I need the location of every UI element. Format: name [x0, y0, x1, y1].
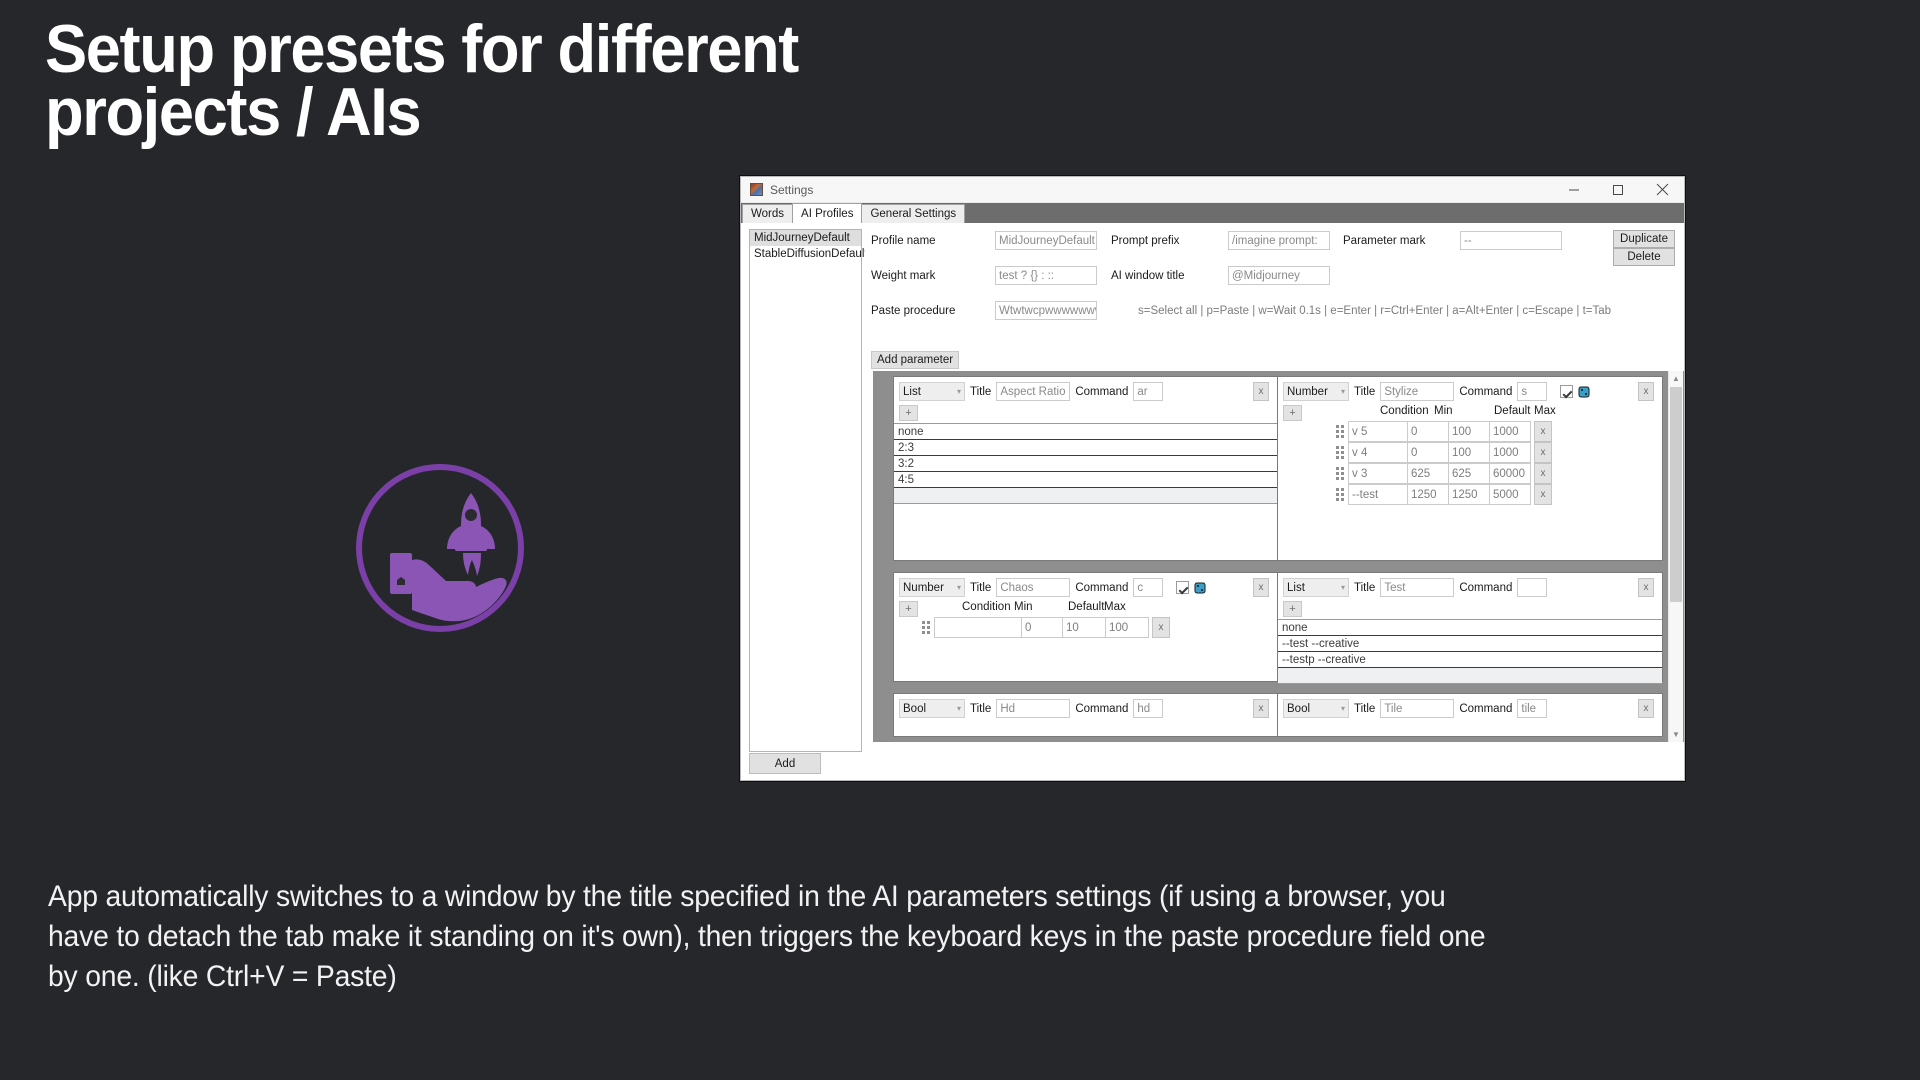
rocket-in-hand-logo	[352, 460, 528, 636]
parameter-card-hd: Bool▾ Title Hd Command hd x	[893, 693, 1278, 737]
vertical-scrollbar[interactable]: ▲ ▼	[1668, 371, 1683, 742]
condition-table-header: Condition Min Default Max	[962, 601, 1277, 613]
condition-row: v 3 625 625 60000 x	[1334, 463, 1662, 484]
minimize-icon[interactable]	[1552, 177, 1596, 202]
command-label: Command	[1459, 703, 1512, 715]
chevron-up-icon[interactable]: ▲	[1669, 371, 1683, 386]
param-kind-select[interactable]: Bool▾	[1283, 699, 1349, 718]
slide-caption: App automatically switches to a window b…	[48, 877, 1488, 996]
condition-label: Condition	[962, 601, 1014, 613]
condition-row: v 4 0 100 1000 x	[1334, 442, 1662, 463]
default-input[interactable]: 100	[1448, 442, 1490, 463]
add-parameter-button[interactable]: Add parameter	[871, 351, 959, 369]
drag-handle-icon[interactable]	[1334, 425, 1345, 439]
remove-parameter-button[interactable]: x	[1253, 578, 1269, 597]
param-kind-value: Number	[1287, 386, 1328, 398]
condition-input[interactable]: v 5	[1348, 421, 1408, 442]
param-kind-select[interactable]: List▾	[899, 382, 965, 401]
condition-input[interactable]: v 3	[1348, 463, 1408, 484]
parameters-scroll-region: List▾ Title Aspect Ratio Command ar x + …	[873, 371, 1684, 742]
default-input[interactable]: 10	[1062, 617, 1106, 638]
list-item[interactable]: 4:5	[894, 472, 1277, 488]
title-label: Title	[1354, 582, 1375, 594]
title-label: Title	[970, 582, 991, 594]
remove-parameter-button[interactable]: x	[1253, 699, 1269, 718]
title-label: Title	[1354, 703, 1375, 715]
title-label: Title	[970, 386, 991, 398]
param-kind-value: List	[903, 386, 921, 398]
min-input[interactable]: 0	[1407, 421, 1449, 442]
profile-list[interactable]: MidJourneyDefault StableDiffusionDefault	[749, 229, 862, 752]
param-title-input[interactable]: Test	[1380, 578, 1454, 597]
param-kind-select[interactable]: Number▾	[1283, 382, 1349, 401]
drag-handle-icon[interactable]	[1334, 446, 1345, 460]
remove-condition-button[interactable]: x	[1152, 617, 1170, 638]
profile-form: Profile name Weight mark Paste procedure…	[865, 223, 1684, 347]
remove-parameter-button[interactable]: x	[1638, 578, 1654, 597]
prompt-prefix-label: Prompt prefix	[1111, 235, 1179, 247]
condition-row: --test 1250 1250 5000 x	[1334, 484, 1662, 505]
command-label: Command	[1459, 386, 1512, 398]
list-item[interactable]: none	[894, 424, 1277, 440]
randomize-checkbox[interactable]	[1560, 385, 1573, 398]
param-title-input[interactable]: Hd	[996, 699, 1070, 718]
param-command-input[interactable]: ar	[1133, 382, 1163, 401]
add-condition-button[interactable]: +	[1283, 405, 1302, 421]
list-item[interactable]: 2:3	[894, 440, 1277, 456]
parameter-card-row: Number▾ Title Chaos Command c x	[893, 572, 1663, 682]
ai-window-title-input[interactable]: @Midjourney	[1228, 266, 1330, 285]
paste-procedure-input[interactable]: Wtwtwcpwwwwwww	[995, 301, 1097, 320]
param-kind-value: List	[1287, 582, 1305, 594]
condition-input[interactable]: --test	[1348, 484, 1408, 505]
parameter-card-stylize: Number▾ Title Stylize Command s x	[1278, 376, 1663, 561]
profile-item-stablediffusiondefault[interactable]: StableDiffusionDefault	[750, 246, 861, 262]
command-label: Command	[1075, 386, 1128, 398]
max-input[interactable]: 100	[1105, 617, 1149, 638]
parameter-card-aspect-ratio: List▾ Title Aspect Ratio Command ar x + …	[893, 376, 1278, 561]
default-input[interactable]: 100	[1448, 421, 1490, 442]
list-item[interactable]: 3:2	[894, 456, 1277, 472]
param-title-input[interactable]: Chaos	[996, 578, 1070, 597]
default-label: Default	[1068, 601, 1104, 613]
default-input[interactable]: 1250	[1448, 484, 1490, 505]
chevron-down-icon: ▾	[957, 583, 961, 592]
window-titlebar: Settings	[741, 177, 1684, 203]
tab-general-settings[interactable]: General Settings	[861, 204, 965, 223]
weight-mark-label: Weight mark	[871, 270, 935, 282]
window-title: Settings	[770, 183, 813, 197]
min-input[interactable]: 1250	[1407, 484, 1449, 505]
add-condition-button[interactable]: +	[899, 601, 918, 617]
default-label: Default	[1494, 405, 1534, 417]
list-item[interactable]: --testp --creative	[1278, 652, 1662, 668]
param-command-input[interactable]: hd	[1133, 699, 1163, 718]
randomize-checkbox[interactable]	[1176, 581, 1189, 594]
chevron-down-icon: ▾	[957, 704, 961, 713]
remove-condition-button[interactable]: x	[1534, 463, 1552, 484]
scrollbar-thumb[interactable]	[1670, 387, 1682, 602]
chevron-down-icon: ▾	[957, 387, 961, 396]
param-kind-select[interactable]: Bool▾	[899, 699, 965, 718]
weight-mark-input[interactable]: test ? {} : ::	[995, 266, 1097, 285]
parameter-mark-input[interactable]: --	[1460, 231, 1562, 250]
title-label: Title	[1354, 386, 1375, 398]
paste-procedure-label: Paste procedure	[871, 305, 955, 317]
duplicate-button[interactable]: Duplicate	[1613, 230, 1675, 248]
ai-window-title-label: AI window title	[1111, 270, 1185, 282]
app-icon	[750, 183, 763, 196]
min-label: Min	[1014, 601, 1068, 613]
tab-ai-profiles[interactable]: AI Profiles	[792, 203, 862, 223]
remove-parameter-button[interactable]: x	[1253, 382, 1269, 401]
condition-input[interactable]	[934, 617, 1022, 638]
param-kind-value: Bool	[1287, 703, 1310, 715]
list-items: none --test --creative --testp --creativ…	[1278, 619, 1662, 684]
param-command-input[interactable]	[1517, 578, 1547, 597]
max-label: Max	[1534, 405, 1556, 417]
parameter-card-test: List▾ Title Test Command x + none --test…	[1278, 572, 1663, 682]
param-title-input[interactable]: Aspect Ratio	[996, 382, 1070, 401]
parameter-card-tile: Bool▾ Title Tile Command tile x	[1278, 693, 1663, 737]
param-command-input[interactable]: s	[1517, 382, 1547, 401]
chevron-down-icon: ▾	[1341, 583, 1345, 592]
command-label: Command	[1075, 703, 1128, 715]
remove-parameter-button[interactable]: x	[1638, 699, 1654, 718]
min-input[interactable]: 0	[1407, 442, 1449, 463]
condition-input[interactable]: v 4	[1348, 442, 1408, 463]
param-kind-value: Bool	[903, 703, 926, 715]
param-command-input[interactable]: tile	[1517, 699, 1547, 718]
chevron-down-icon: ▾	[1341, 387, 1345, 396]
delete-button[interactable]: Delete	[1613, 248, 1675, 266]
condition-label: Condition	[1380, 405, 1434, 417]
parameter-card-chaos: Number▾ Title Chaos Command c x	[893, 572, 1278, 682]
condition-table-header: Condition Min Default Max	[1380, 405, 1662, 417]
default-input[interactable]: 625	[1448, 463, 1490, 484]
title-label: Title	[970, 703, 991, 715]
param-kind-value: Number	[903, 582, 944, 594]
remove-condition-button[interactable]: x	[1534, 484, 1552, 505]
min-input[interactable]: 625	[1407, 463, 1449, 484]
drag-handle-icon[interactable]	[1334, 467, 1345, 481]
dice-icon[interactable]	[1194, 582, 1206, 594]
drag-handle-icon[interactable]	[1334, 488, 1345, 502]
max-label: Max	[1104, 601, 1126, 613]
condition-row: v 5 0 100 1000 x	[1334, 421, 1662, 442]
settings-window: Settings Words AI Profiles General Setti…	[740, 176, 1685, 781]
max-input[interactable]: 1000	[1489, 442, 1531, 463]
command-label: Command	[1459, 582, 1512, 594]
hotkeys-legend: s=Select all | p=Paste | w=Wait 0.1s | e…	[1138, 305, 1611, 317]
remove-condition-button[interactable]: x	[1534, 421, 1552, 442]
add-list-item-button[interactable]: +	[1283, 601, 1302, 617]
add-button[interactable]: Add	[749, 753, 821, 774]
page-title: Setup presets for different projects / A…	[45, 18, 975, 144]
param-title-input[interactable]: Tile	[1380, 699, 1454, 718]
command-label: Command	[1075, 582, 1128, 594]
list-item[interactable]: none	[1278, 620, 1662, 636]
max-input[interactable]: 1000	[1489, 421, 1531, 442]
param-kind-select[interactable]: Number▾	[899, 578, 965, 597]
list-item-empty[interactable]	[1278, 668, 1662, 684]
parameter-card-row: Bool▾ Title Hd Command hd x Bool▾ Title	[893, 693, 1663, 737]
min-input[interactable]: 0	[1021, 617, 1063, 638]
max-input[interactable]: 60000	[1489, 463, 1531, 484]
list-item-empty[interactable]	[894, 488, 1277, 504]
param-command-input[interactable]: c	[1133, 578, 1163, 597]
remove-parameter-button[interactable]: x	[1638, 382, 1654, 401]
max-input[interactable]: 5000	[1489, 484, 1531, 505]
profile-item-midjourneydefault[interactable]: MidJourneyDefault	[750, 230, 861, 246]
profile-name-label: Profile name	[871, 235, 936, 247]
chevron-down-icon[interactable]: ▼	[1669, 727, 1683, 742]
condition-row: 0 10 100 x	[920, 617, 1277, 638]
chevron-down-icon: ▾	[1341, 704, 1345, 713]
profile-name-input[interactable]: MidJourneyDefault	[995, 231, 1097, 250]
maximize-icon[interactable]	[1596, 177, 1640, 202]
list-items: none 2:3 3:2 4:5	[894, 423, 1277, 504]
prompt-prefix-input[interactable]: /imagine prompt:	[1228, 231, 1330, 250]
dice-icon[interactable]	[1578, 386, 1590, 398]
min-label: Min	[1434, 405, 1494, 417]
param-kind-select[interactable]: List▾	[1283, 578, 1349, 597]
list-item[interactable]: --test --creative	[1278, 636, 1662, 652]
close-icon[interactable]	[1640, 177, 1684, 202]
drag-handle-icon[interactable]	[920, 621, 931, 635]
parameter-mark-label: Parameter mark	[1343, 235, 1425, 247]
parameter-card-row: List▾ Title Aspect Ratio Command ar x + …	[893, 376, 1663, 561]
param-title-input[interactable]: Stylize	[1380, 382, 1454, 401]
add-list-item-button[interactable]: +	[899, 405, 918, 421]
window-body: MidJourneyDefault StableDiffusionDefault…	[741, 223, 1684, 780]
tabstrip: Words AI Profiles General Settings	[741, 203, 1684, 223]
remove-condition-button[interactable]: x	[1534, 442, 1552, 463]
tab-words[interactable]: Words	[742, 204, 793, 223]
